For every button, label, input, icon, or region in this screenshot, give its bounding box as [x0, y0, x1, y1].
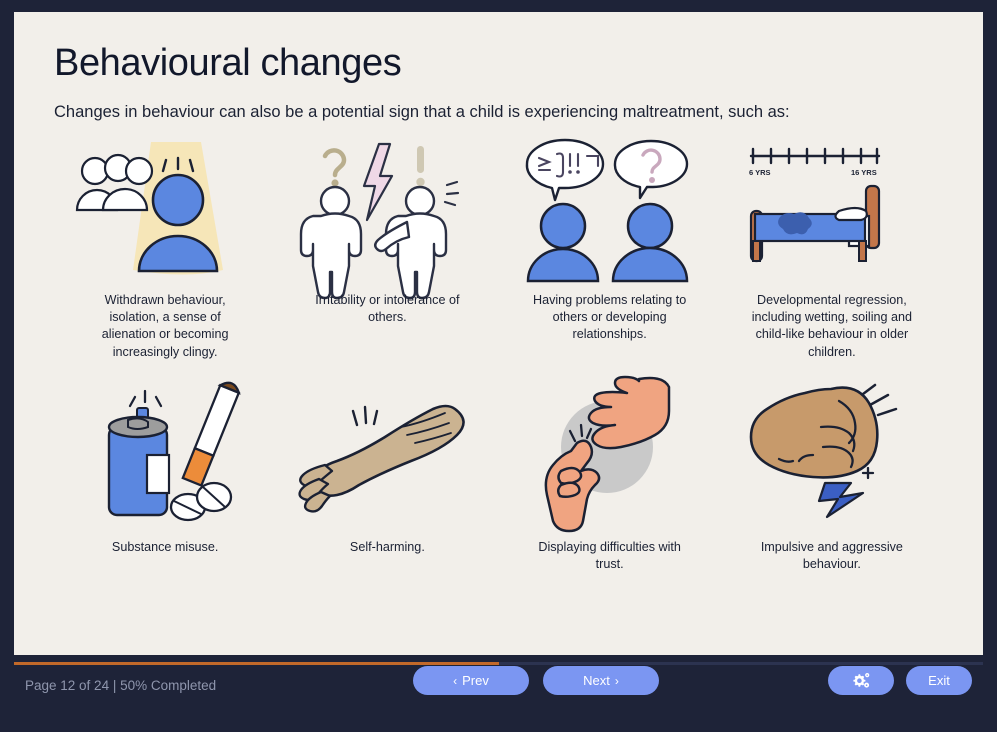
- behaviour-item-caption: Having problems relating to others or de…: [526, 292, 694, 344]
- slide-canvas: Behavioural changes Changes in behaviour…: [14, 12, 983, 655]
- clenched-fist-lightning-icon: [739, 375, 924, 530]
- page-title: Behavioural changes: [54, 42, 943, 85]
- navigation-controls: ‹ Prev Next ›: [413, 666, 659, 695]
- behaviour-item-caption: Impulsive and aggressive behaviour.: [748, 539, 916, 574]
- page-status-text: Page 12 of 24 | 50% Completed: [25, 678, 216, 693]
- behaviour-item-caption: Displaying difficulties with trust.: [526, 539, 694, 574]
- two-hands-reaching-icon: [517, 375, 702, 530]
- behaviour-item-self-harm: Self-harming.: [276, 375, 498, 574]
- bed-wetting-timeline-icon: 6 YRS 16 YRS: [739, 138, 924, 283]
- progress-bar-fill: [14, 662, 499, 665]
- prev-button[interactable]: ‹ Prev: [413, 666, 529, 695]
- utility-controls: Exit: [828, 666, 972, 695]
- timeline-start-label: 6 YRS: [749, 168, 771, 177]
- settings-button[interactable]: [828, 666, 894, 695]
- two-people-conflict-icon: [295, 138, 480, 283]
- behaviour-item-caption: Irritability or intolerance of others.: [303, 292, 471, 327]
- behaviour-item-relationships: Having problems relating to others or de…: [499, 138, 721, 362]
- timeline-end-label: 16 YRS: [851, 168, 877, 177]
- behaviour-item-caption: Developmental regression, including wett…: [748, 292, 916, 362]
- scarred-forearm-icon: [295, 375, 480, 530]
- course-player: Behavioural changes Changes in behaviour…: [0, 0, 997, 732]
- two-people-speech-bubbles-icon: [517, 138, 702, 283]
- spotlight-withdrawn-person-icon: [73, 138, 258, 283]
- behaviour-item-substance: Substance misuse.: [54, 375, 276, 574]
- next-button[interactable]: Next ›: [543, 666, 659, 695]
- next-button-label: Next: [583, 673, 610, 688]
- behaviour-item-caption: Self-harming.: [303, 539, 471, 556]
- behaviour-item-caption: Substance misuse.: [81, 539, 249, 556]
- exit-button-label: Exit: [928, 673, 950, 688]
- behaviour-item-withdrawn: Withdrawn behaviour, isolation, a sense …: [54, 138, 276, 362]
- chevron-right-icon: ›: [615, 675, 619, 687]
- chevron-left-icon: ‹: [453, 675, 457, 687]
- prev-button-label: Prev: [462, 673, 489, 688]
- spray-can-cigarette-pills-icon: [73, 375, 258, 530]
- player-footer: Page 12 of 24 | 50% Completed ‹ Prev Nex…: [0, 655, 997, 732]
- page-subtitle: Changes in behaviour can also be a poten…: [54, 103, 943, 122]
- exit-button[interactable]: Exit: [906, 666, 972, 695]
- behaviour-item-grid: Withdrawn behaviour, isolation, a sense …: [54, 138, 943, 574]
- behaviour-item-regression: 6 YRS 16 YRS: [721, 138, 943, 362]
- behaviour-item-irritability: Irritability or intolerance of others.: [276, 138, 498, 362]
- behaviour-item-trust: Displaying difficulties with trust.: [499, 375, 721, 574]
- progress-bar-track[interactable]: [14, 662, 983, 665]
- behaviour-item-caption: Withdrawn behaviour, isolation, a sense …: [81, 292, 249, 362]
- behaviour-item-aggression: Impulsive and aggressive behaviour.: [721, 375, 943, 574]
- cogs-icon: [852, 673, 871, 689]
